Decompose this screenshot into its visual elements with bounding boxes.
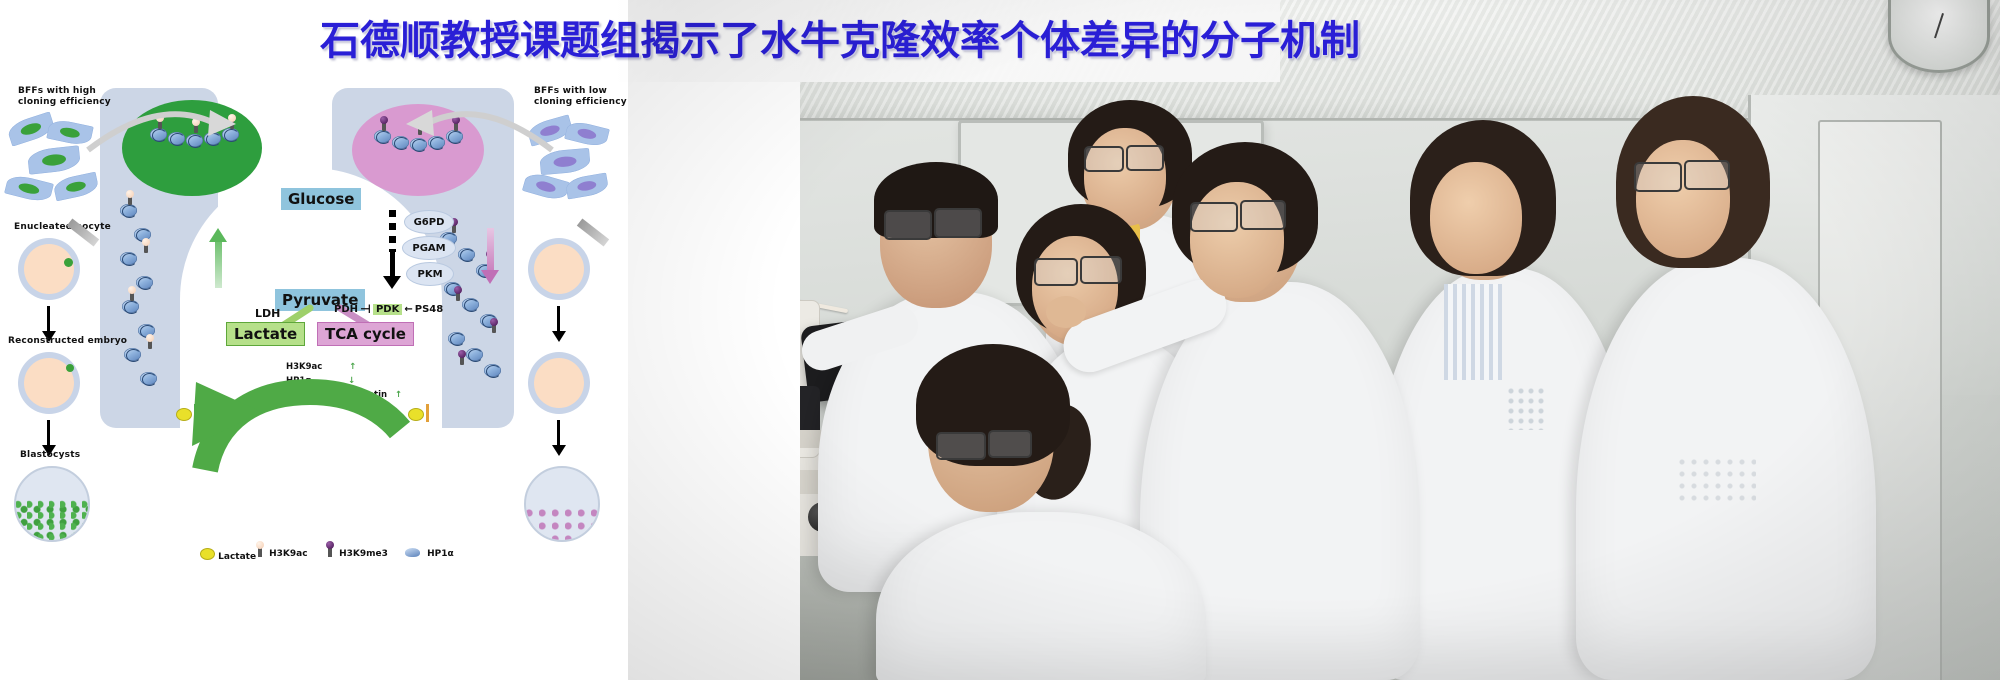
wall-clock-icon: [1888, 0, 1990, 73]
lactate-chip: Lactate: [226, 322, 305, 346]
nucleosome-icon: [428, 136, 445, 149]
glycolysis-dashed-arrow: [389, 210, 396, 252]
h3k9me3-pin-icon: [418, 126, 422, 135]
nucleosome-icon: [462, 298, 479, 311]
mark-row: H3K9ac ↑: [286, 360, 402, 374]
fibroblast-cell: [27, 145, 81, 174]
fibroblast-cell: [565, 173, 610, 200]
person-7-glasses-left: [1634, 162, 1682, 192]
nucleosome-icon: [186, 134, 203, 147]
enzyme-pkm: PKM: [406, 262, 454, 286]
glycolysis-arrowhead: [383, 276, 401, 289]
nucleosome-icon: [120, 252, 137, 265]
oocyte-reconstructed-right: [528, 352, 590, 414]
person-5-glasses-left: [1084, 146, 1124, 172]
nucleosome-icon: [410, 138, 427, 151]
pdh-label: PDH: [334, 304, 358, 315]
enzyme-pgam: PGAM: [402, 236, 456, 260]
person-3-glasses-left: [1034, 258, 1078, 286]
nucleosome-icon: [374, 130, 391, 143]
legend-icon-lactate: [200, 548, 215, 560]
legend-label: H3K9ac: [269, 549, 307, 559]
h3k9me3-pin-icon: [382, 122, 386, 131]
enzyme-g6pd: G6PD: [404, 210, 454, 234]
upregulation-green-arrow: [215, 240, 222, 288]
coat-embroidery-1: [1506, 386, 1546, 430]
pdk-regulation-row: PDH ⊣ PDK ← PS48: [334, 302, 443, 316]
oocyte-enucleated: [18, 238, 80, 300]
arrow-down: [557, 420, 560, 446]
legend-icon-h3k9ac: [258, 548, 262, 557]
nucleosome-icon: [122, 300, 139, 313]
bffs-low-label: BFFs with low cloning efficiency: [534, 86, 634, 109]
legend-label: H3K9me3: [339, 549, 388, 559]
lactate-down-arrow-right: [426, 404, 429, 422]
lactate-up-arrow-left: [194, 404, 197, 422]
pipette-icon-right: [577, 218, 609, 246]
mark-row: accessible chromatin ↑: [286, 388, 402, 402]
glucose-chip: Glucose: [281, 188, 361, 210]
lactate-dot-icon: [176, 408, 192, 421]
nucleus-high-efficiency: [122, 100, 262, 196]
h3k9ac-pin-icon: [230, 120, 234, 129]
person-man-glasses-left: [884, 210, 932, 240]
person-4-glasses-right: [1240, 200, 1286, 230]
reconstructed-embryo-label: Reconstructed embryo: [8, 336, 127, 347]
nucleosome-icon: [222, 128, 239, 141]
donor-nucleus-dot: [64, 258, 73, 267]
chromatin-marks-list: H3K9ac ↑ HP1α ↓ accessible chromatin ↑: [286, 360, 402, 402]
legend-label: HP1α: [427, 549, 454, 559]
legend-item: H3K9me3: [328, 548, 388, 559]
arrow-left-icon: ←: [404, 304, 412, 315]
mark-row: HP1α ↓: [286, 374, 402, 388]
h3k9me3-pin-icon: [492, 324, 496, 333]
nucleosome-icon: [466, 348, 483, 361]
person-man-glasses-right: [934, 208, 982, 238]
blastocyst-dish-low: [524, 466, 600, 542]
reconstructed-nucleus-dot: [66, 364, 74, 372]
legend-item: H3K9ac: [258, 548, 308, 559]
inhibit-symbol-icon: ⊣: [360, 302, 371, 316]
nucleosome-icon: [446, 130, 463, 143]
lactate-dot-icon-right: [408, 408, 424, 421]
nucleosome-icon: [484, 364, 501, 377]
trend-up-icon: ↑: [395, 390, 402, 400]
trend-up-icon: ↑: [349, 362, 356, 372]
scientific-schematic: BFFs with high cloning efficiency Enucle…: [0, 0, 800, 680]
glycolysis-solid-arrow: [390, 252, 395, 278]
nucleosome-icon: [136, 276, 153, 289]
arrow-down: [557, 306, 560, 332]
h3k9ac-pin-icon: [158, 120, 162, 129]
oocyte-reconstructed: [18, 352, 80, 414]
person-seated-glasses-right: [988, 430, 1032, 458]
page-title: 石德顺教授课题组揭示了水牛克隆效率个体差异的分子机制: [320, 12, 1260, 70]
mark-name: H3K9ac: [286, 362, 322, 372]
fibroblast-cell: [46, 118, 93, 148]
blastocysts-label: Blastocysts: [20, 450, 80, 461]
legend-item: Lactate: [200, 548, 256, 562]
nucleosome-icon: [392, 136, 409, 149]
laboratory-photo: [628, 0, 2000, 680]
nucleosome-icon: [120, 204, 137, 217]
person-4-hand: [1046, 296, 1086, 328]
upregulation-green-arrowhead: [209, 228, 227, 242]
person-7-glasses-right: [1684, 160, 1730, 190]
h3k9me3-pin-icon: [456, 292, 460, 301]
oocyte-enucleated-right: [528, 238, 590, 300]
arrow-down: [47, 306, 50, 332]
nucleosome-icon: [168, 132, 185, 145]
person-4-glasses-left: [1190, 202, 1238, 232]
nucleosome-icon: [458, 248, 475, 261]
mark-name: accessible chromatin: [286, 390, 387, 400]
fibroblast-cell: [4, 173, 54, 205]
legend-icon-h3k9me3: [328, 548, 332, 557]
title-banner: 石德顺教授课题组揭示了水牛克隆效率个体差异的分子机制: [0, 0, 1280, 82]
h3k9me3-pin-icon: [460, 356, 464, 365]
h3k9ac-pin-icon: [144, 244, 148, 253]
ldh-label: LDH: [248, 305, 287, 322]
screenshot-root: BFFs with high cloning efficiency Enucle…: [0, 0, 2000, 680]
nucleosome-icon: [140, 372, 157, 385]
enucleated-oocyte-label: Enucleated oocyte: [14, 222, 111, 233]
h3k9ac-pin-icon: [128, 196, 132, 205]
coat-embroidery-2: [1676, 456, 1756, 504]
person-seated-glasses: [936, 432, 986, 460]
tca-cycle-chip: TCA cycle: [317, 322, 414, 346]
fibroblast-cell: [52, 172, 99, 202]
bffs-high-label: BFFs with high cloning efficiency: [18, 86, 114, 109]
blastocyst-dish-high: [14, 466, 90, 542]
pdk-chip: PDK: [373, 304, 402, 315]
person-5-glasses-right: [1126, 145, 1164, 171]
arrow-down: [47, 420, 50, 446]
person-6-face: [1430, 162, 1522, 274]
person-3-glasses-right: [1080, 256, 1122, 284]
fibroblast-cell: [539, 148, 591, 175]
fibroblast-cell: [564, 119, 610, 149]
nucleosome-icon: [150, 128, 167, 141]
ps48-label: PS48: [415, 304, 443, 315]
h3k9me3-pin-icon: [454, 122, 458, 131]
person-6-shirt-stripe: [1444, 284, 1502, 380]
trend-down-icon: ↓: [348, 376, 355, 386]
downregulation-pink-arrow: [487, 228, 494, 272]
legend-label: Lactate: [218, 552, 256, 562]
fibroblast-cell: [522, 170, 570, 202]
h3k9ac-pin-icon: [148, 340, 152, 349]
nucleosome-icon: [204, 132, 221, 145]
nucleosome-icon: [124, 348, 141, 361]
h3k9ac-pin-icon: [194, 124, 198, 133]
h3k9ac-pin-icon: [130, 292, 134, 301]
legend-icon-hp1a: [405, 548, 420, 557]
nucleosome-icon: [448, 332, 465, 345]
downregulation-pink-arrowhead: [481, 270, 499, 284]
mark-name: HP1α: [286, 376, 311, 386]
person-7-face: [1636, 140, 1730, 258]
legend-item: HP1α: [405, 548, 454, 559]
